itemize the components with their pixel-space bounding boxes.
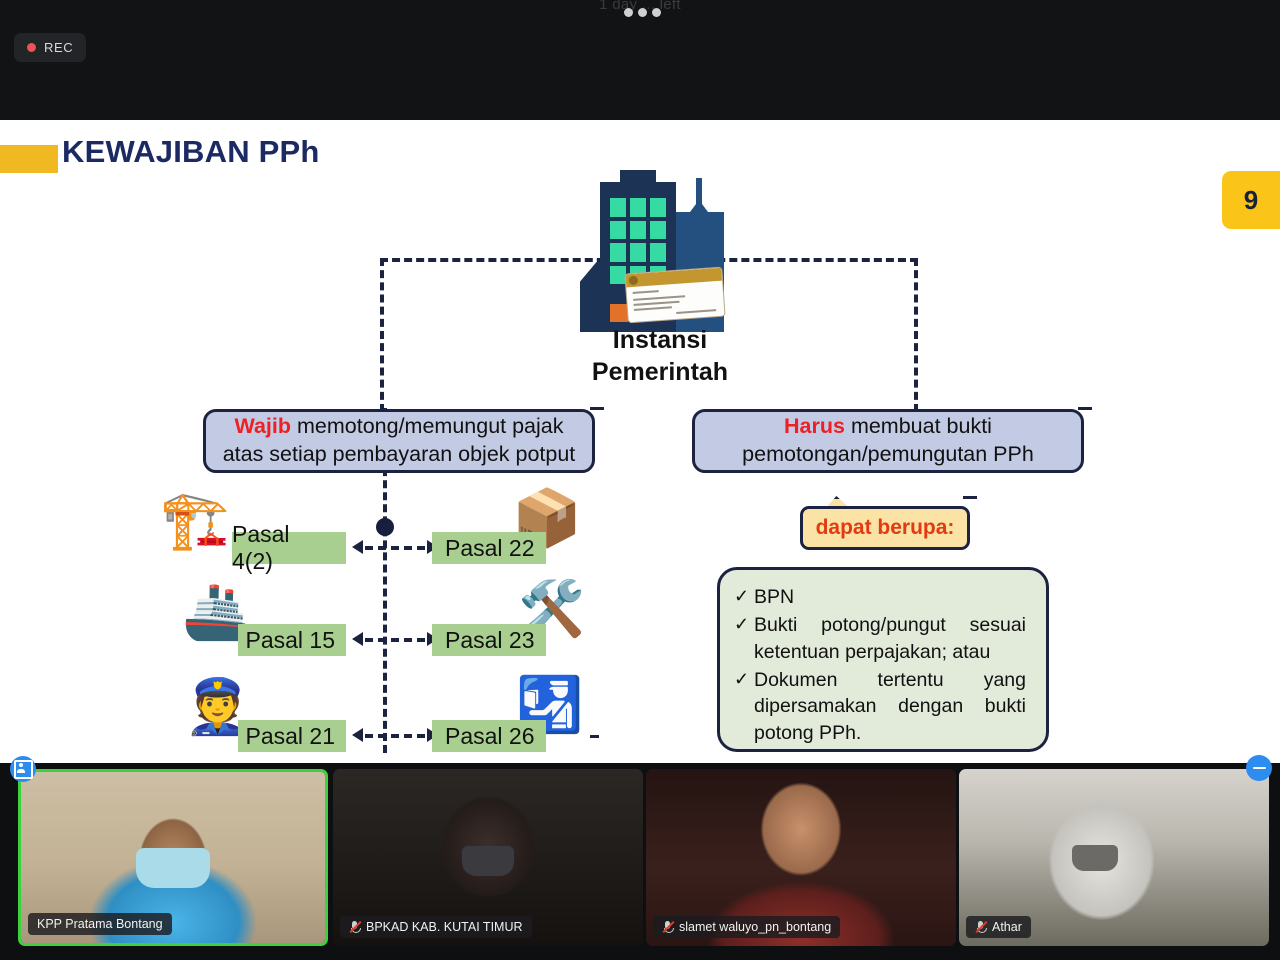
list-item: ✓ Bukti potong/pungut sesuai ketentuan p… bbox=[734, 612, 1026, 665]
wajib-box: Wajib memotong/memungut pajak atas setia… bbox=[203, 409, 595, 473]
connector-node-left bbox=[376, 518, 394, 536]
checkmark-icon: ✓ bbox=[734, 584, 754, 610]
shared-slide: KEWAJIBAN PPh 9 bbox=[0, 120, 1280, 763]
wajib-line2: atas setiap pembayaran objek potput bbox=[223, 442, 576, 466]
bidirectional-arrow-row2 bbox=[352, 629, 438, 651]
bidirectional-arrow-row3 bbox=[352, 725, 438, 747]
participant-name-tag-1: KPP Pratama Bontang bbox=[28, 913, 172, 935]
list-item: ✓ Dokumen tertentu yang dipersamakan den… bbox=[734, 667, 1026, 746]
participant-label-3: slamet waluyo_pn_bontang bbox=[679, 920, 831, 934]
tick-callout bbox=[963, 496, 977, 499]
harus-keyword: Harus bbox=[784, 414, 845, 438]
page-title: KEWAJIBAN PPh bbox=[62, 134, 320, 170]
participant-strip: KPP Pratama Bontang BPKAD KAB. KUTAI TIM… bbox=[0, 763, 1280, 960]
construction-building-icon: 🏗️ bbox=[160, 492, 230, 548]
pasal-label-22: Pasal 22 bbox=[432, 532, 546, 564]
participant-tile-1[interactable]: KPP Pratama Bontang bbox=[18, 769, 328, 946]
harus-text: membuat bukti bbox=[845, 414, 992, 438]
participant-name-tag-3: slamet waluyo_pn_bontang bbox=[653, 916, 840, 938]
meeting-window: 1 day ... left REC KEWAJIBAN PPh 9 bbox=[0, 0, 1280, 960]
harus-line2: pemotongan/pemungutan PPh bbox=[742, 442, 1034, 466]
participant-tile-2[interactable]: BPKAD KAB. KUTAI TIMUR bbox=[333, 769, 643, 946]
participant-tile-4[interactable]: Athar bbox=[959, 769, 1269, 946]
gallery-view-icon[interactable] bbox=[10, 756, 36, 782]
record-dot-icon bbox=[27, 43, 36, 52]
tick-bottom bbox=[590, 735, 599, 738]
tick-right bbox=[1078, 407, 1092, 410]
npwp-card-icon bbox=[624, 267, 725, 324]
pasal-label-26: Pasal 26 bbox=[432, 720, 546, 752]
participant-name-tag-2: BPKAD KAB. KUTAI TIMUR bbox=[340, 916, 532, 938]
tick-left bbox=[590, 407, 604, 410]
harus-box: Harus membuat bukti pemotongan/pemunguta… bbox=[692, 409, 1084, 473]
checkmark-icon: ✓ bbox=[734, 667, 754, 746]
minus-circle-icon[interactable] bbox=[1246, 755, 1272, 781]
drag-dots-icon[interactable] bbox=[624, 8, 661, 17]
title-accent-bar bbox=[0, 145, 58, 173]
participant-label-1: KPP Pratama Bontang bbox=[37, 917, 163, 931]
participant-label-4: Athar bbox=[992, 920, 1022, 934]
pasal-label-15: Pasal 15 bbox=[238, 624, 346, 656]
participant-name-tag-4: Athar bbox=[966, 916, 1031, 938]
participant-label-2: BPKAD KAB. KUTAI TIMUR bbox=[366, 920, 523, 934]
pasal-label-23: Pasal 23 bbox=[432, 624, 546, 656]
list-item: ✓ BPN bbox=[734, 584, 1026, 610]
top-bar: 1 day ... left REC bbox=[0, 0, 1280, 120]
government-building-npwp-icon bbox=[580, 170, 740, 340]
pasal-label-21: Pasal 21 bbox=[238, 720, 346, 752]
mic-muted-icon bbox=[975, 920, 986, 934]
mic-muted-icon bbox=[349, 920, 360, 934]
checklist-text-3: Dokumen tertentu yang dipersamakan denga… bbox=[754, 667, 1026, 746]
recording-badge[interactable]: REC bbox=[14, 33, 86, 62]
bukti-potong-checklist: ✓ BPN ✓ Bukti potong/pungut sesuai keten… bbox=[717, 567, 1049, 752]
checklist-text-1: BPN bbox=[754, 584, 1026, 610]
slide-page-number: 9 bbox=[1222, 171, 1280, 229]
center-entity-label: Instansi Pemerintah bbox=[520, 325, 800, 388]
pasal-label-4-2: Pasal 4(2) bbox=[232, 532, 346, 564]
checklist-text-2: Bukti potong/pungut sesuai ketentuan per… bbox=[754, 612, 1026, 665]
mic-muted-icon bbox=[662, 920, 673, 934]
bidirectional-arrow-row1 bbox=[352, 537, 438, 559]
recording-label: REC bbox=[44, 40, 73, 55]
wajib-text: memotong/memungut pajak bbox=[291, 414, 563, 438]
checkmark-icon: ✓ bbox=[734, 612, 754, 665]
dapat-berupa-callout: dapat berupa: bbox=[800, 506, 970, 550]
wajib-keyword: Wajib bbox=[234, 414, 291, 438]
participant-tile-3[interactable]: slamet waluyo_pn_bontang bbox=[646, 769, 956, 946]
